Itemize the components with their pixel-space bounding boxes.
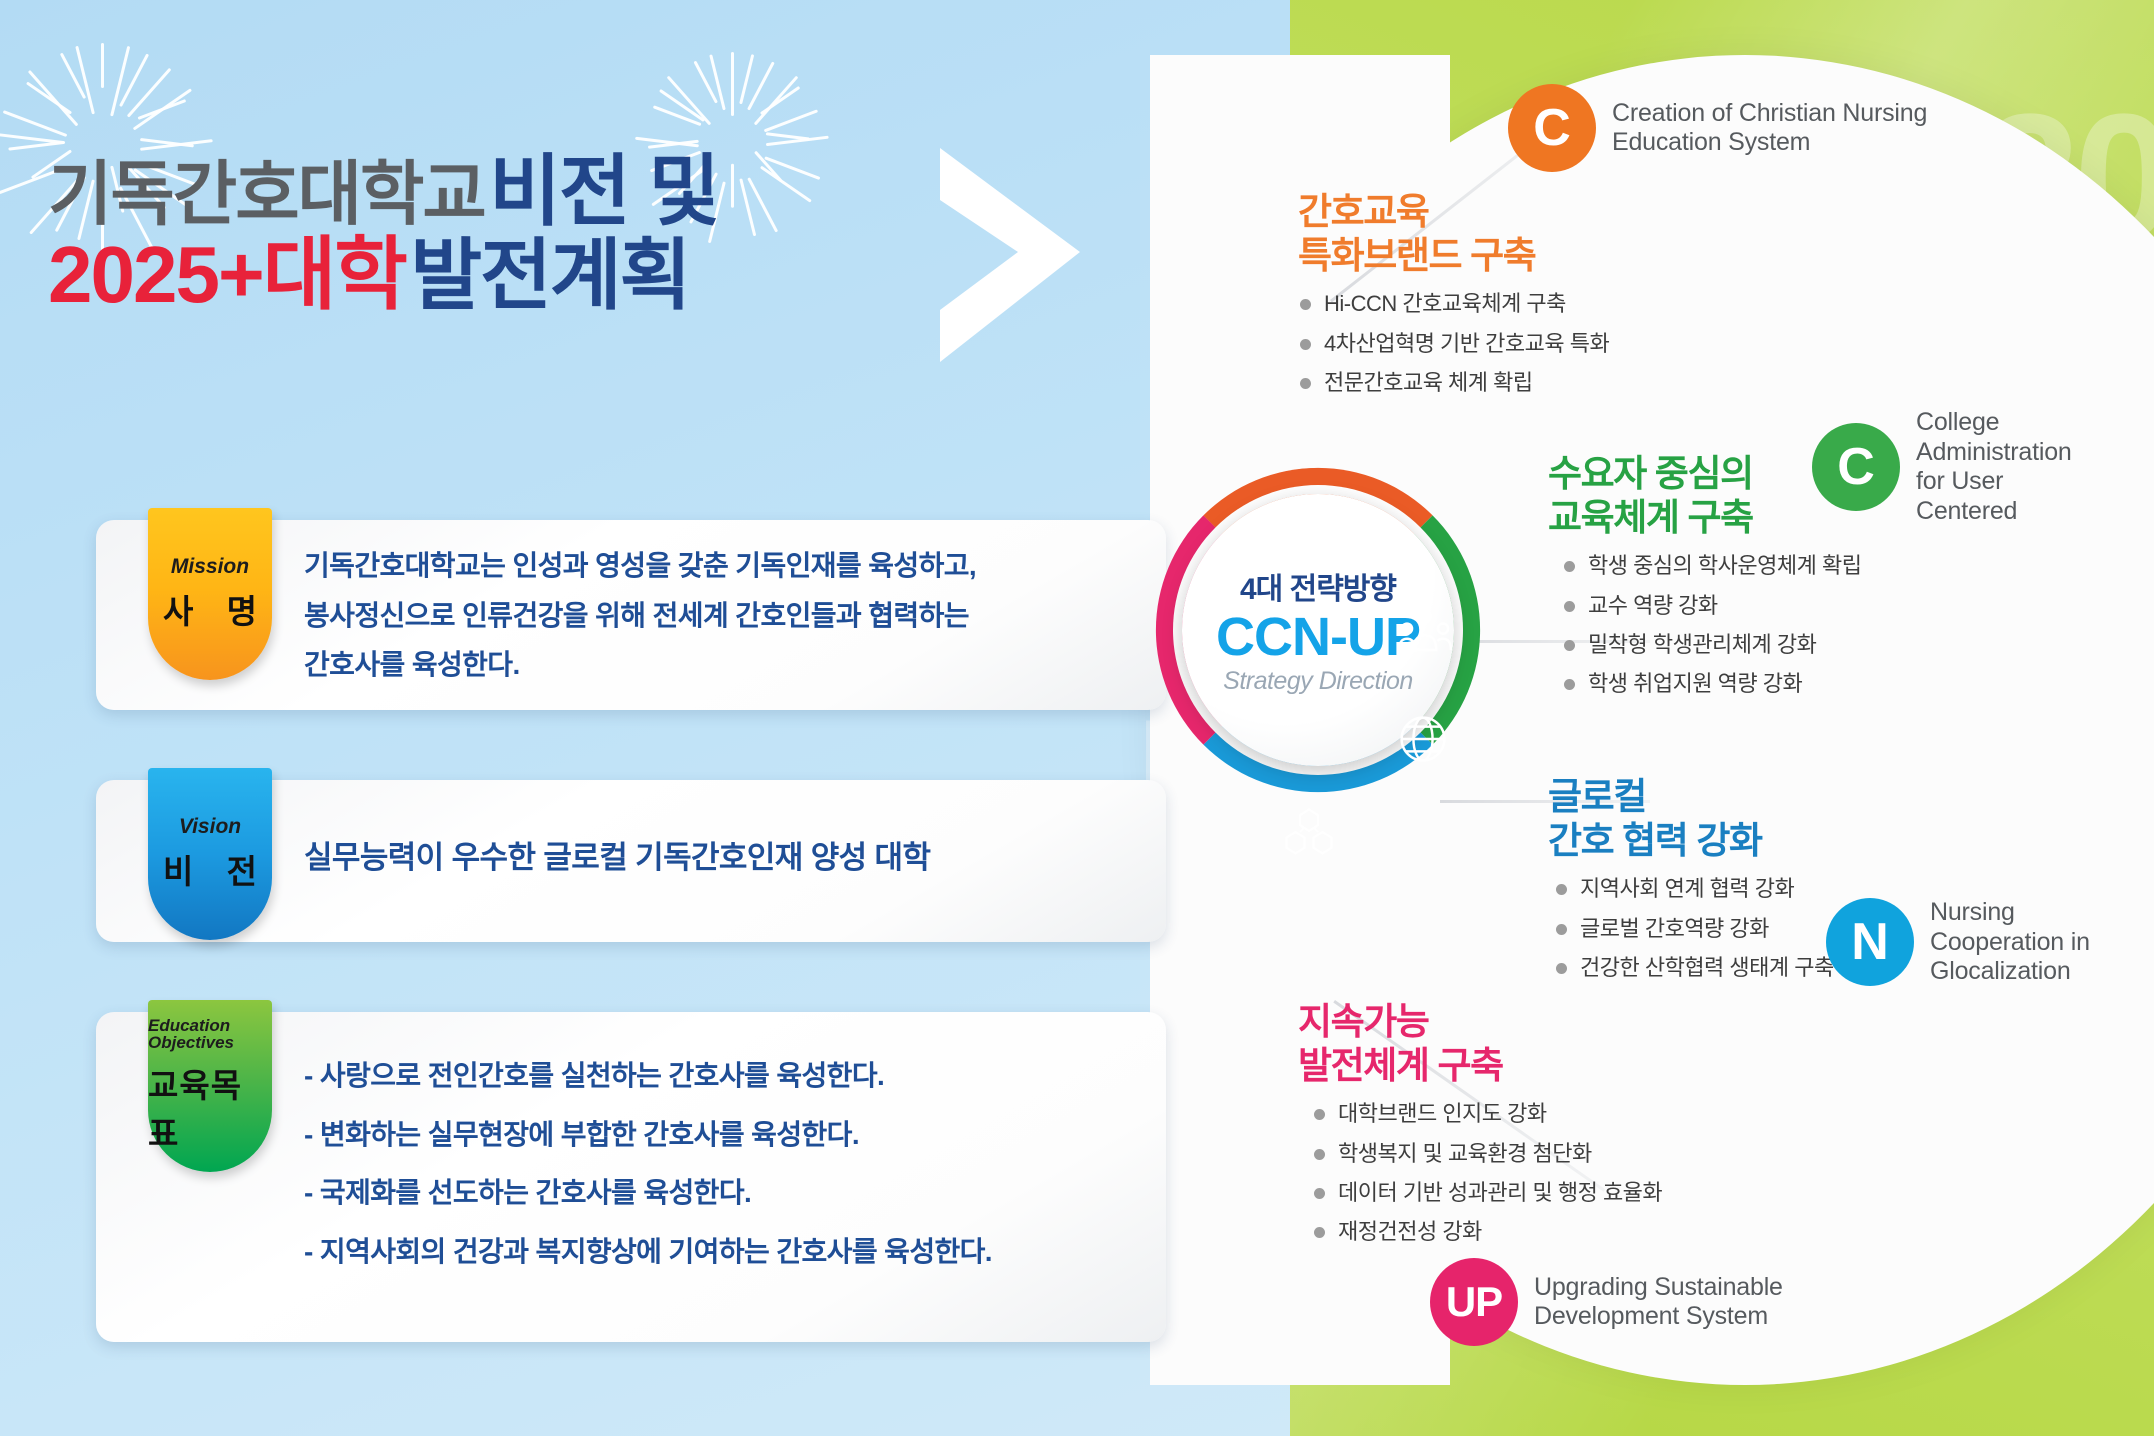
bullet-item: 대학브랜드 인지도 강화	[1312, 1101, 1662, 1127]
bullet-item: 지역사회 연계 협력 강화	[1554, 876, 1834, 902]
letter-badge-text-c1: Creation of Christian Nursing Education …	[1612, 99, 1927, 158]
poster-canvas: 20 25 PLAN 기독간호대학교 비전 및 2025+대학 발전계획 Mis…	[0, 0, 2154, 1436]
bullet-item: 학생 취업지원 역량 강화	[1562, 671, 1861, 697]
letter-badge-creation: C Creation of Christian Nursing Educatio…	[1508, 84, 1927, 172]
vision-badge: Vision 비 전	[148, 768, 272, 940]
quadrant-1: 간호교육 특화브랜드 구축 Hi-CCN 간호교육체계 구축 4차산업혁명 기반…	[1298, 190, 1609, 409]
wheel-brand: CCN-UP	[1216, 608, 1420, 667]
quadrant-4: 지속가능 발전체계 구축 대학브랜드 인지도 강화 학생복지 및 교육환경 첨단…	[1298, 1000, 1662, 1259]
bullet-item: 건강한 산학협력 생태계 구축	[1554, 955, 1834, 981]
bullet-item: 4차산업혁명 기반 간호교육 특화	[1298, 331, 1609, 357]
bullet-item: 학생복지 및 교육환경 첨단화	[1312, 1141, 1662, 1167]
quadrant-3: 글로컬 간호 협력 강화 지역사회 연계 협력 강화 글로벌 간호역량 강화 건…	[1548, 775, 1834, 994]
bullet-item: 전문간호교육 체계 확립	[1298, 370, 1609, 396]
bullet-item: Hi-CCN 간호교육체계 구축	[1298, 291, 1609, 317]
globe-icon	[1396, 712, 1450, 766]
title-development-plan: 발전계획	[410, 231, 689, 319]
objective-line: - 변화하는 실무현장에 부합한 간호사를 육성한다.	[304, 1115, 1140, 1156]
objective-line: - 국제화를 선도하는 간호사를 육성한다.	[304, 1173, 1140, 1214]
firework-burst-icon	[100, 80, 101, 81]
letter-badge-upgrading: UP Upgrading Sustainable Development Sys…	[1430, 1258, 1783, 1346]
bullet-item: 데이터 기반 성과관리 및 행정 효율화	[1312, 1180, 1662, 1206]
bullet-item: 재정건전성 강화	[1312, 1219, 1662, 1245]
letter-badge-nursing: N Nursing Cooperation in Glocalization	[1826, 898, 2090, 987]
mission-badge: Mission 사 명	[148, 508, 272, 680]
letter-badge-circle-up: UP	[1430, 1258, 1518, 1346]
title-2025-plus-university: 2025+대학	[48, 230, 406, 319]
mission-badge-en: Mission	[171, 556, 249, 577]
vision-badge-ko: 비 전	[151, 845, 269, 893]
quadrant-1-title: 간호교육 특화브랜드 구축	[1298, 190, 1609, 277]
letter-badge-text-n: Nursing Cooperation in Glocalization	[1930, 898, 2090, 987]
education-objectives-badge-ko: 교육목표	[148, 1059, 272, 1155]
letter-badge-circle-c2: C	[1812, 423, 1900, 511]
mission-card: Mission 사 명 기독간호대학교는 인성과 영성을 갖춘 기독인재를 육성…	[96, 520, 1166, 710]
quadrant-3-title: 글로컬 간호 협력 강화	[1548, 775, 1834, 862]
letter-badge-college: C College Administration for User Center…	[1812, 408, 2072, 526]
letter-badge-text-up: Upgrading Sustainable Development System	[1534, 1273, 1783, 1332]
education-objectives-text: - 사랑으로 전인간호를 실천하는 간호사를 육성한다. - 변화하는 실무현장…	[304, 1056, 1140, 1272]
quadrant-3-bullets: 지역사회 연계 협력 강화 글로벌 간호역량 강화 건강한 산학협력 생태계 구…	[1554, 876, 1834, 981]
firework-burst-icon	[730, 85, 731, 86]
network-nodes-icon	[1282, 805, 1336, 859]
lightbulb-icon	[1284, 498, 1338, 552]
letter-badge-text-c2: College Administration for User Centered	[1916, 408, 2072, 526]
vision-text: 실무능력이 우수한 글로컬 기독간호인재 양성 대학	[304, 836, 1140, 881]
people-group-icon	[1398, 605, 1452, 659]
education-objectives-card: Education Objectives 교육목표 - 사랑으로 전인간호를 실…	[96, 1012, 1166, 1342]
bullet-item: 글로벌 간호역량 강화	[1554, 916, 1834, 942]
bullet-item: 교수 역량 강화	[1562, 593, 1861, 619]
title-university-name: 기독간호대학교	[48, 155, 485, 233]
vision-line: 실무능력이 우수한 글로컬 기독간호인재 양성 대학	[304, 836, 1140, 881]
quadrant-2-bullets: 학생 중심의 학사운영체계 확립 교수 역량 강화 밀착형 학생관리체계 강화 …	[1562, 553, 1861, 698]
letter-badge-circle-n: N	[1826, 898, 1914, 986]
bullet-item: 학생 중심의 학사운영체계 확립	[1562, 553, 1861, 579]
title-vision-and: 비전 및	[489, 147, 718, 235]
mission-badge-ko: 사 명	[151, 585, 269, 633]
mission-line: 봉사정신으로 인류건강을 위해 전세계 간호인들과 협력하는	[304, 596, 1140, 637]
mission-text: 기독간호대학교는 인성과 영성을 갖춘 기독인재를 육성하고, 봉사정신으로 인…	[304, 546, 1140, 686]
vision-card: Vision 비 전 실무능력이 우수한 글로컬 기독간호인재 양성 대학	[96, 780, 1166, 942]
letter-badge-circle-c1: C	[1508, 84, 1596, 172]
objective-line: - 사랑으로 전인간호를 실천하는 간호사를 육성한다.	[304, 1056, 1140, 1097]
quadrant-4-title: 지속가능 발전체계 구축	[1298, 1000, 1662, 1087]
objective-line: - 지역사회의 건강과 복지향상에 기여하는 간호사를 육성한다.	[304, 1232, 1140, 1273]
mission-line: 간호사를 육성한다.	[304, 645, 1140, 686]
quadrant-1-bullets: Hi-CCN 간호교육체계 구축 4차산업혁명 기반 간호교육 특화 전문간호교…	[1298, 291, 1609, 396]
mission-line: 기독간호대학교는 인성과 영성을 갖춘 기독인재를 육성하고,	[304, 546, 1140, 587]
vision-badge-en: Vision	[179, 816, 241, 837]
title-line-1: 기독간호대학교 비전 및	[48, 150, 718, 233]
chevron-right-icon	[930, 140, 1090, 370]
wheel-subtitle: Strategy Direction	[1223, 667, 1413, 696]
bullet-item: 밀착형 학생관리체계 강화	[1562, 632, 1861, 658]
wheel-heading: 4대 전략방향	[1240, 564, 1396, 608]
quadrant-4-bullets: 대학브랜드 인지도 강화 학생복지 및 교육환경 첨단화 데이터 기반 성과관리…	[1312, 1101, 1662, 1246]
page-title: 기독간호대학교 비전 및 2025+대학 발전계획	[48, 150, 718, 317]
education-objectives-badge-en: Education Objectives	[148, 1017, 272, 1051]
education-objectives-badge: Education Objectives 교육목표	[148, 1000, 272, 1172]
title-line-2: 2025+대학 발전계획	[48, 233, 718, 318]
